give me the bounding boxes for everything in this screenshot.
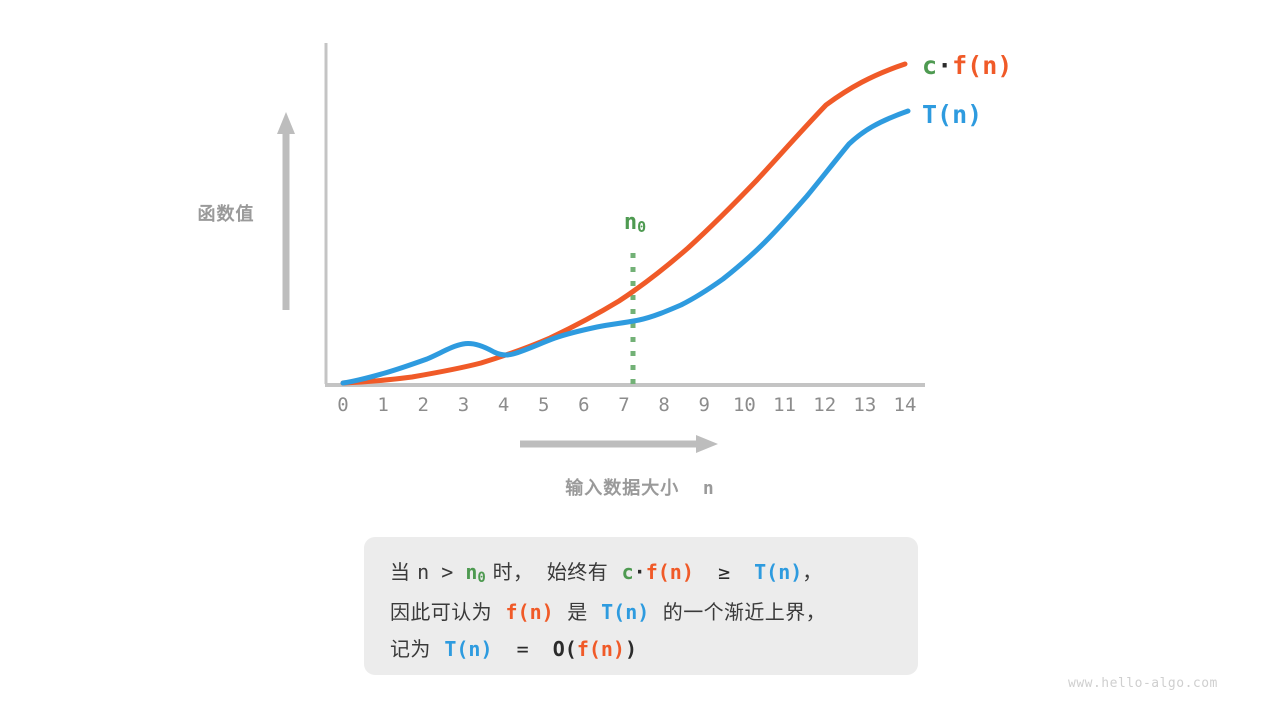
caption-l2-p2: 是 xyxy=(554,600,601,624)
legend-fn: f(n) xyxy=(952,51,1012,80)
caption-box: 当 n > n0 时， 始终有 c·f(n) ≥ T(n)， 因此可认为 f(n… xyxy=(364,537,918,675)
caption-l3-tn: T(n) xyxy=(444,637,492,661)
x-tick-11: 11 xyxy=(765,394,805,416)
caption-l2-fn: f(n) xyxy=(506,600,554,624)
x-tick-4: 4 xyxy=(484,394,524,416)
x-axis-label-text: 输入数据大小 xyxy=(565,478,679,499)
caption-l2-p3: 的一个渐近上界， xyxy=(649,600,826,624)
caption-line-1: 当 n > n0 时， 始终有 c·f(n) ≥ T(n)， xyxy=(390,554,892,594)
caption-l1-dot: · xyxy=(634,560,646,584)
caption-l3-bigo: O( xyxy=(553,637,577,661)
curve-tn xyxy=(343,111,908,383)
caption-l1-n0: n xyxy=(465,560,477,584)
n0-marker-n: n xyxy=(624,210,637,235)
caption-line-3: 记为 T(n) = O(f(n)) xyxy=(390,631,892,668)
x-tick-10: 10 xyxy=(724,394,764,416)
legend-c-fn: c·f(n) xyxy=(922,51,1012,80)
x-tick-14: 14 xyxy=(885,394,925,416)
x-tick-8: 8 xyxy=(644,394,684,416)
y-axis-arrow xyxy=(277,112,295,310)
caption-l1-p1: 当 xyxy=(390,560,417,584)
x-tick-0: 0 xyxy=(323,394,363,416)
caption-l1-fn: f(n) xyxy=(646,560,694,584)
x-axis-label-var: n xyxy=(703,478,715,499)
caption-l3-close: ) xyxy=(625,637,637,661)
asymptotic-upper-bound-figure: 函数值 输入数据大小 n n0 c·f(n) T(n) 012345678910… xyxy=(0,0,1280,720)
caption-l1-n0-sub: 0 xyxy=(477,570,485,586)
x-tick-6: 6 xyxy=(564,394,604,416)
x-tick-7: 7 xyxy=(604,394,644,416)
caption-l1-gt: > xyxy=(429,560,465,584)
x-tick-3: 3 xyxy=(443,394,483,416)
caption-l3-eq: = xyxy=(493,637,553,661)
x-tick-13: 13 xyxy=(845,394,885,416)
caption-l2-tn: T(n) xyxy=(601,600,649,624)
x-tick-2: 2 xyxy=(403,394,443,416)
caption-l3-p1: 记为 xyxy=(390,637,444,661)
caption-l2-p1: 因此可认为 xyxy=(390,600,506,624)
watermark: www.hello-algo.com xyxy=(1068,676,1218,691)
caption-l1-p2: 时， 始终有 xyxy=(486,560,622,584)
x-axis-label: 输入数据大小 n xyxy=(460,474,820,500)
x-tick-1: 1 xyxy=(363,394,403,416)
caption-l1-c: c xyxy=(622,560,634,584)
legend-dot-operator: · xyxy=(937,51,952,80)
n0-marker-subscript: 0 xyxy=(637,218,646,236)
x-tick-9: 9 xyxy=(684,394,724,416)
caption-l1-ge: ≥ xyxy=(694,560,754,584)
n0-marker-label: n0 xyxy=(600,210,670,235)
caption-l1-tn: T(n) xyxy=(754,560,802,584)
caption-l1-p3: ， xyxy=(802,560,822,584)
x-tick-5: 5 xyxy=(524,394,564,416)
caption-l1-n: n xyxy=(417,560,429,584)
legend-tn: T(n) xyxy=(922,100,982,129)
x-axis-tick-labels: 01234567891011121314 xyxy=(325,394,925,422)
caption-line-2: 因此可认为 f(n) 是 T(n) 的一个渐近上界， xyxy=(390,594,892,631)
x-axis-arrow xyxy=(520,435,718,453)
legend-c-constant: c xyxy=(922,51,937,80)
x-axis-label-variable xyxy=(679,478,703,499)
x-tick-12: 12 xyxy=(805,394,845,416)
caption-l3-fn: f(n) xyxy=(577,637,625,661)
y-axis-label: 函数值 xyxy=(176,200,276,226)
